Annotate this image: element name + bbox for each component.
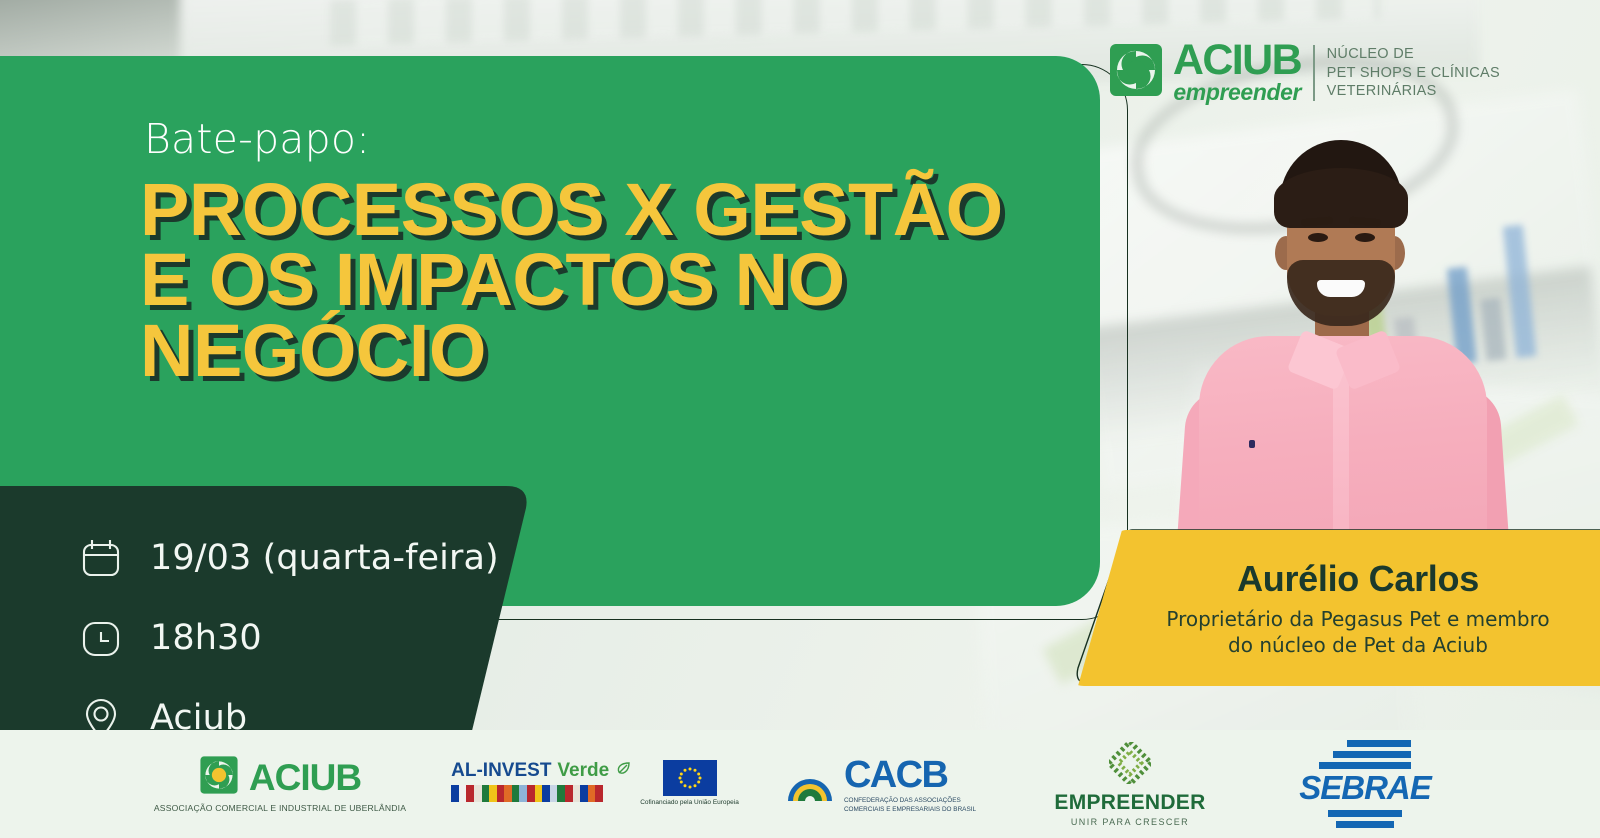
nucleus-line-2: PET SHOPS E CLÍNICAS — [1327, 64, 1500, 83]
eu-caption: Cofinanciado pela União Europeia — [640, 799, 739, 807]
footer-logo-bar: ACIUB ASSOCIAÇÃO COMERCIAL E INDUSTRIAL … — [0, 730, 1600, 838]
poster-canvas: Bate-papo: PROCESSOS X GESTÃO E OS IMPAC… — [0, 0, 1600, 838]
sebrae-bottom-bars — [1319, 810, 1411, 828]
footer-logo-al-invest: AL-INVEST Verde — [445, 760, 745, 807]
hero-kicker: Bate-papo: — [144, 115, 370, 163]
speaker-photo — [1175, 140, 1505, 570]
leaf-icon — [615, 760, 632, 782]
empreender-diamond-icon — [1109, 742, 1151, 789]
speaker-role-line-1: Proprietário da Pegasus Pet e membro — [1166, 607, 1549, 633]
footer-logo-sebrae: SEBRAE — [1245, 740, 1485, 828]
speaker-role: Proprietário da Pegasus Pet e membro do … — [1166, 607, 1549, 658]
speaker-eye-left — [1308, 233, 1328, 242]
aciub-swirl-icon — [1108, 42, 1164, 103]
eu-flag-icon — [663, 760, 717, 796]
nucleus-line-1: NÚCLEO DE — [1327, 45, 1500, 64]
speaker-card-content: Aurélio Carlos Proprietário da Pegasus P… — [1068, 530, 1600, 686]
header-nucleus-text: NÚCLEO DE PET SHOPS E CLÍNICAS VETERINÁR… — [1327, 45, 1500, 101]
footer-logo-aciub: ACIUB ASSOCIAÇÃO COMERCIAL E INDUSTRIAL … — [115, 755, 445, 813]
header-sub-brand: empreender — [1173, 79, 1301, 106]
hero-title-line-2: E OS IMPACTOS NO — [140, 245, 1080, 315]
event-time-value: 18h30 — [150, 618, 262, 658]
event-details-list: 19/03 (quarta-feira) 18h30 — [0, 486, 499, 758]
footer-aciub-tagline: ASSOCIAÇÃO COMERCIAL E INDUSTRIAL DE UBE… — [154, 803, 406, 813]
cacb-tagline-line-1: CONFEDERAÇÃO DAS ASSOCIAÇÕES — [844, 797, 976, 805]
hero-title: PROCESSOS X GESTÃO E OS IMPACTOS NO NEGÓ… — [140, 175, 1080, 386]
cacb-tagline: CONFEDERAÇÃO DAS ASSOCIAÇÕES COMERCIAIS … — [844, 797, 976, 814]
al-invest-colorbar — [451, 785, 603, 802]
header-logo-brand: ACIUB empreender — [1108, 40, 1301, 106]
speaker-name: Aurélio Carlos — [1237, 558, 1479, 600]
calendar-icon — [78, 535, 124, 581]
header-logo-wordmark: ACIUB empreender — [1173, 40, 1301, 106]
header-brand-name: ACIUB — [1173, 40, 1301, 81]
event-detail-date: 19/03 (quarta-feira) — [78, 518, 499, 598]
footer-logo-cacb: CACB CONFEDERAÇÃO DAS ASSOCIAÇÕES COMERC… — [745, 754, 1015, 814]
event-detail-time: 18h30 — [78, 598, 499, 678]
eu-emblem: Cofinanciado pela União Europeia — [640, 760, 739, 807]
al-invest-verde: Verde — [557, 760, 609, 782]
event-date-value: 19/03 (quarta-feira) — [150, 538, 499, 578]
al-invest-name: AL-INVEST — [451, 760, 551, 782]
speaker-hair-front — [1274, 168, 1408, 228]
nucleus-line-3: VETERINÁRIAS — [1327, 82, 1500, 101]
header-logo: ACIUB empreender NÚCLEO DE PET SHOPS E C… — [1108, 40, 1500, 106]
hero-title-line-1: PROCESSOS X GESTÃO — [140, 175, 1080, 245]
speaker-eye-right — [1355, 233, 1375, 242]
cacb-arch-icon — [784, 761, 836, 808]
aciub-swirl-icon — [199, 755, 239, 800]
header-divider — [1313, 45, 1315, 101]
speaker-smile — [1317, 280, 1365, 297]
speaker-role-line-2: do núcleo de Pet da Aciub — [1166, 633, 1549, 659]
footer-aciub-name: ACIUB — [249, 757, 361, 799]
cacb-tagline-line-2: COMERCIAIS E EMPRESARIAIS DO BRASIL — [844, 806, 976, 814]
speaker-shirt-emblem — [1249, 440, 1255, 448]
hero-title-line-3: NEGÓCIO — [140, 316, 1080, 386]
sebrae-name: SEBRAE — [1299, 769, 1431, 807]
footer-logo-empreender: EMPREENDER UNIR PARA CRESCER — [1015, 742, 1245, 827]
clock-icon — [78, 615, 124, 661]
cacb-name: CACB — [844, 754, 976, 797]
empreender-tagline: UNIR PARA CRESCER — [1071, 817, 1189, 827]
sebrae-top-bars — [1319, 740, 1411, 769]
empreender-name: EMPREENDER — [1054, 791, 1205, 815]
